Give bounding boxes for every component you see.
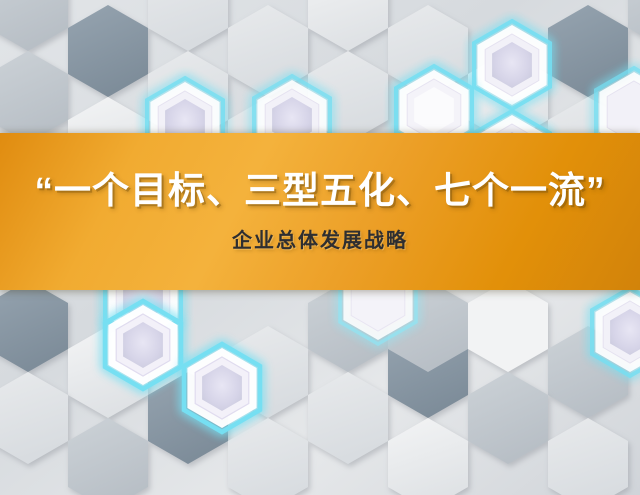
page-title: “一个目标、三型五化、七个一流” [35,171,606,212]
slide-canvas: “一个目标、三型五化、七个一流” 企业总体发展战略 [0,0,640,495]
title-banner: “一个目标、三型五化、七个一流” 企业总体发展战略 [0,133,640,290]
page-subtitle: 企业总体发展战略 [232,230,408,252]
